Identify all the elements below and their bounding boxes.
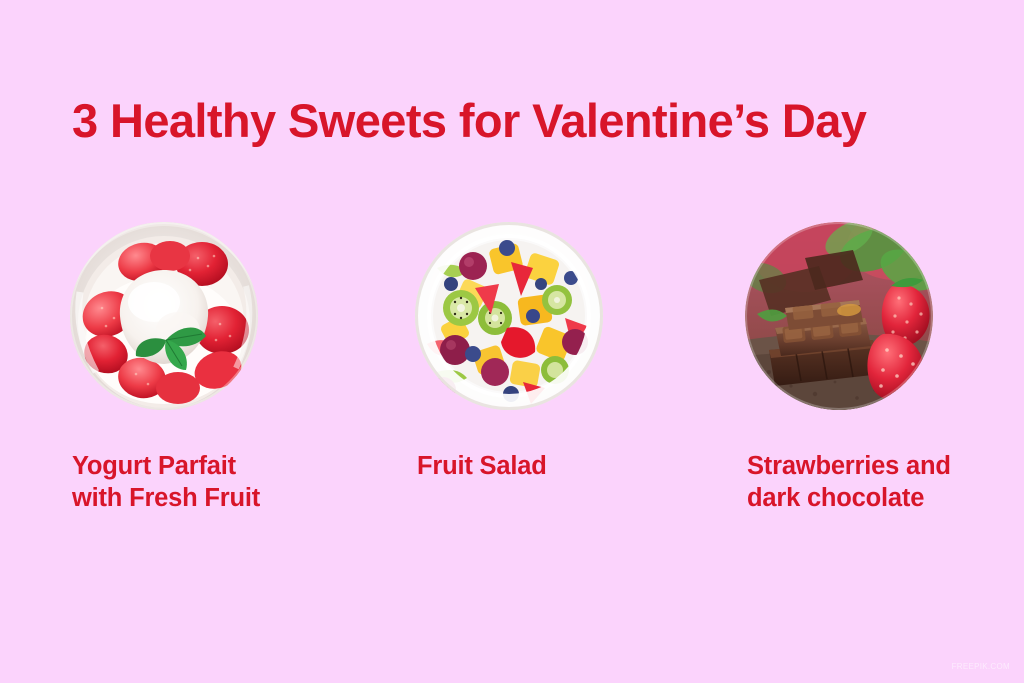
yogurt-parfait-photo bbox=[70, 222, 258, 410]
sweet-card-fruit-salad: Fruit Salad bbox=[415, 222, 715, 410]
card-caption: Fruit Salad bbox=[417, 450, 657, 482]
card-caption: Yogurt Parfait with Fresh Fruit bbox=[72, 450, 282, 514]
poster-canvas: 3 Healthy Sweets for Valentine’s Day bbox=[0, 0, 1024, 683]
page-title: 3 Healthy Sweets for Valentine’s Day bbox=[72, 96, 972, 145]
strawberries-chocolate-photo bbox=[745, 222, 933, 410]
watermark: FREEPIK.COM bbox=[952, 662, 1010, 671]
card-caption: Strawberries and dark chocolate bbox=[747, 450, 979, 514]
sweet-card-yogurt-parfait: Yogurt Parfait with Fresh Fruit bbox=[70, 222, 370, 410]
sweet-card-strawberries-chocolate: Strawberries and dark chocolate bbox=[745, 222, 1015, 410]
fruit-salad-photo bbox=[415, 222, 603, 410]
